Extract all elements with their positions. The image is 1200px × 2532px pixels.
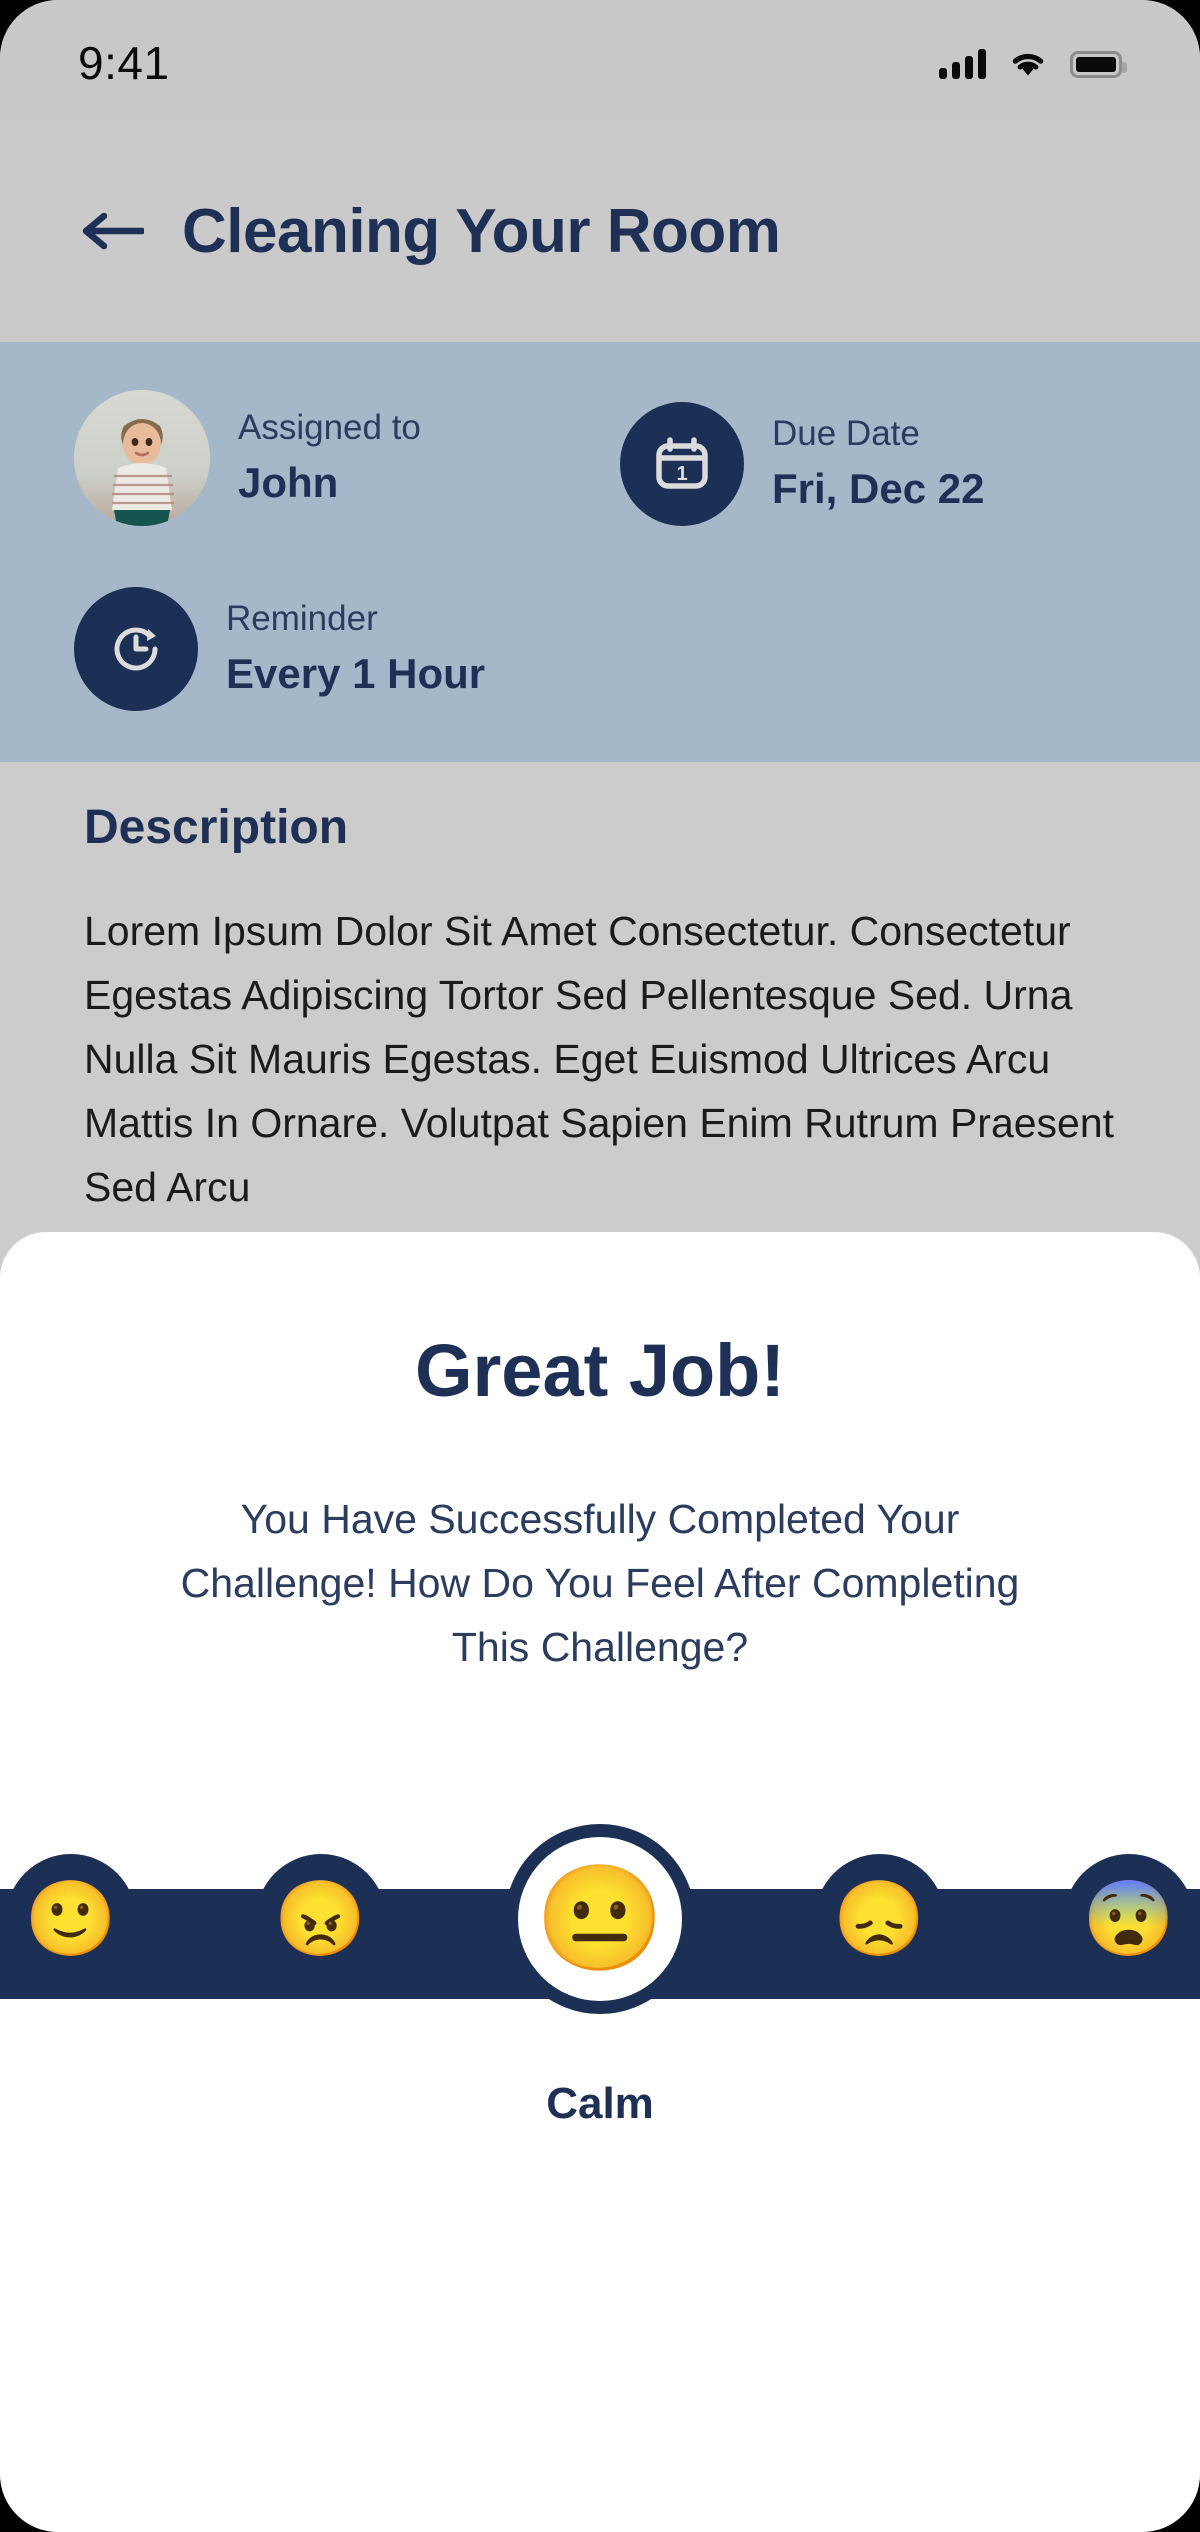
battery-icon — [1070, 51, 1122, 78]
reminder-row: Reminder Every 1 Hour — [74, 587, 485, 711]
description-body: Lorem Ipsum Dolor Sit Amet Consectetur. … — [84, 899, 1144, 1219]
app-header: Cleaning Your Room — [0, 120, 1200, 342]
selected-mood-label: Calm — [0, 2079, 1200, 2129]
page-title: Cleaning Your Room — [182, 196, 780, 267]
modal-title: Great Job! — [0, 1328, 1200, 1413]
modal-subtitle: You Have Successfully Completed Your Cha… — [0, 1487, 1200, 1679]
fearful-face-emoji[interactable]: 😨 — [1064, 1854, 1194, 1984]
completion-modal: Great Job! You Have Successfully Complet… — [0, 1232, 1200, 2532]
mood-options[interactable]: 🙂😠😐😞😨 — [0, 1789, 1200, 2049]
description-section: Description Lorem Ipsum Dolor Sit Amet C… — [84, 800, 1144, 1219]
neutral-face-emoji[interactable]: 😐 — [505, 1824, 695, 2014]
mood-selector: 🙂😠😐😞😨 — [0, 1789, 1200, 2049]
slightly-smiling-face-emoji[interactable]: 🙂 — [6, 1854, 136, 1984]
phone-screen: 9:41 Cleaning Your Room — [0, 0, 1200, 2532]
due-date-label: Due Date — [772, 412, 984, 456]
assigned-to-value: John — [238, 456, 421, 511]
due-date-row: 1 Due Date Fri, Dec 22 — [620, 402, 984, 526]
back-arrow-icon[interactable] — [82, 208, 144, 254]
reminder-value: Every 1 Hour — [226, 647, 485, 702]
avatar — [74, 390, 210, 526]
cellular-signal-icon — [939, 49, 986, 79]
status-bar-icons — [939, 49, 1122, 79]
svg-text:1: 1 — [676, 463, 687, 485]
assigned-to-label: Assigned to — [238, 406, 421, 450]
reminder-label: Reminder — [226, 597, 485, 641]
clock-refresh-icon — [74, 587, 198, 711]
wifi-icon — [1008, 49, 1048, 79]
calendar-icon: 1 — [620, 402, 744, 526]
sad-face-emoji[interactable]: 😞 — [815, 1854, 945, 1984]
status-bar: 9:41 — [0, 0, 1200, 120]
due-date-value: Fri, Dec 22 — [772, 462, 984, 517]
task-info-panel: Assigned to John 1 Due Date Fri, Dec 22 — [0, 342, 1200, 762]
status-bar-clock: 9:41 — [78, 36, 170, 90]
assigned-to-row: Assigned to John — [74, 390, 421, 526]
description-title: Description — [84, 800, 1144, 855]
angry-face-emoji[interactable]: 😠 — [256, 1854, 386, 1984]
